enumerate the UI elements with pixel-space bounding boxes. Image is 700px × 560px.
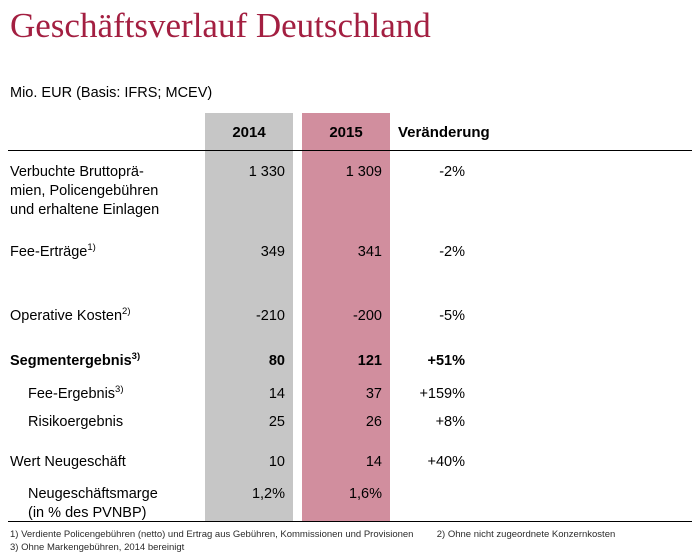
- column-header-2015: 2015: [302, 124, 390, 142]
- cell-2015: -200: [302, 307, 382, 326]
- row-label: Fee-Erträge1): [10, 243, 96, 262]
- cell-2014: 80: [205, 352, 285, 371]
- column-header-veraenderung: Veränderung: [398, 124, 490, 142]
- footnote-2: 2) Ohne nicht zugeordnete Konzernkosten: [437, 529, 616, 540]
- footnote-line-1: 1) Verdiente Policengebühren (netto) und…: [10, 529, 694, 542]
- cell-2015: 341: [302, 243, 382, 262]
- row-label: Risikoergebnis: [28, 413, 123, 432]
- cell-2015: 26: [302, 413, 382, 432]
- cell-veraenderung: +159%: [385, 385, 465, 404]
- cell-veraenderung: -2%: [385, 243, 465, 262]
- cell-veraenderung: -2%: [385, 163, 465, 182]
- footnote-1: 1) Verdiente Policengebühren (netto) und…: [10, 529, 413, 540]
- cell-veraenderung: +51%: [385, 352, 465, 371]
- financial-table: 2014 2015 Veränderung Verbuchte Bruttopr…: [0, 0, 700, 560]
- footnote-marker: 2): [122, 306, 130, 317]
- footnote-marker: 3): [115, 384, 123, 395]
- cell-2014: 14: [205, 385, 285, 404]
- cell-2015: 37: [302, 385, 382, 404]
- footnotes: 1) Verdiente Policengebühren (netto) und…: [10, 529, 694, 554]
- footnote-line-2: 3) Ohne Markengebühren, 2014 bereinigt: [10, 542, 694, 555]
- cell-2014: 10: [205, 453, 285, 472]
- cell-veraenderung: +8%: [385, 413, 465, 432]
- footnote-marker: 3): [132, 351, 140, 362]
- cell-2015: 14: [302, 453, 382, 472]
- row-label: Verbuchte Bruttoprä- mien, Policengebühr…: [10, 163, 159, 220]
- cell-2014: -210: [205, 307, 285, 326]
- cell-2014: 25: [205, 413, 285, 432]
- row-label: Wert Neugeschäft: [10, 453, 126, 472]
- table-header-rule: [8, 150, 692, 151]
- cell-veraenderung: -5%: [385, 307, 465, 326]
- cell-2015: 1,6%: [302, 485, 382, 504]
- row-label: Segmentergebnis3): [10, 352, 140, 371]
- cell-2015: 1 309: [302, 163, 382, 182]
- cell-2014: 1,2%: [205, 485, 285, 504]
- row-label: Fee-Ergebnis3): [28, 385, 124, 404]
- cell-2015: 121: [302, 352, 382, 371]
- row-label: Operative Kosten2): [10, 307, 131, 326]
- row-label: Neugeschäftsmarge (in % des PVNBP): [28, 485, 158, 523]
- footnote-3: 3) Ohne Markengebühren, 2014 bereinigt: [10, 542, 184, 553]
- cell-2014: 1 330: [205, 163, 285, 182]
- cell-veraenderung: +40%: [385, 453, 465, 472]
- column-header-2014: 2014: [205, 124, 293, 142]
- footnote-marker: 1): [87, 242, 95, 253]
- cell-2014: 349: [205, 243, 285, 262]
